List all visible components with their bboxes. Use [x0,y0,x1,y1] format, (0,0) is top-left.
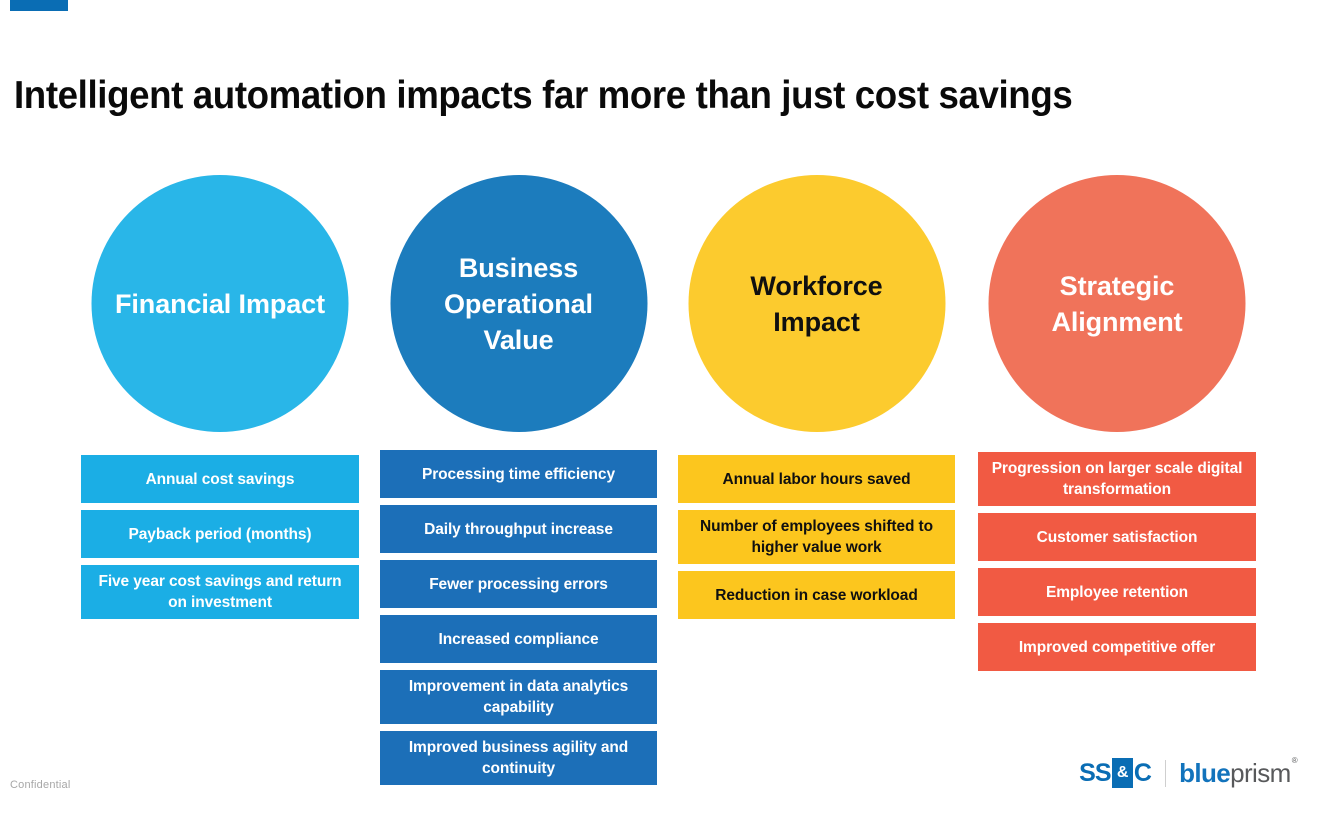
bar-item[interactable]: Daily throughput increase [380,505,657,553]
bar-item[interactable]: Improvement in data analytics capability [380,670,657,724]
ssc-text-right: C [1134,761,1151,786]
circle-label-workforce-impact: Workforce Impact [710,268,923,340]
bar-item[interactable]: Fewer processing errors [380,560,657,608]
column-business-operational-value: Business Operational Value Processing ti… [380,175,657,792]
blueprism-gray-text: prism [1230,758,1291,788]
circle-financial-impact[interactable]: Financial Impact [92,175,349,432]
ampersand-badge-icon: & [1112,758,1133,788]
bar-item[interactable]: Improved competitive offer [978,623,1256,671]
page-title: Intelligent automation impacts far more … [14,73,1217,119]
blueprism-wordmark: blueprism® [1179,760,1296,786]
bar-item[interactable]: Payback period (months) [81,510,359,558]
circle-business-operational-value[interactable]: Business Operational Value [390,175,647,432]
column-strategic-alignment: Strategic Alignment Progression on large… [978,175,1256,678]
ssc-text-left: SS [1079,761,1111,786]
ssc-wordmark: SS & C [1079,758,1151,788]
bar-item[interactable]: Annual labor hours saved [678,455,955,503]
bar-item[interactable]: Increased compliance [380,615,657,663]
logo-divider [1165,760,1166,787]
circle-label-strategic-alignment: Strategic Alignment [1011,268,1224,340]
confidential-label: Confidential [10,779,71,791]
ssc-blueprism-logo: SS & C blueprism® [1079,756,1296,790]
bar-item[interactable]: Employee retention [978,568,1256,616]
bar-item[interactable]: Annual cost savings [81,455,359,503]
column-financial-impact: Financial Impact Annual cost savings Pay… [81,175,359,626]
bar-item[interactable]: Customer satisfaction [978,513,1256,561]
circle-slot-business-operational-value: Business Operational Value [380,175,657,444]
top-accent-bar [10,0,68,11]
bar-list-workforce-impact: Annual labor hours saved Number of emplo… [678,444,955,619]
bar-list-financial-impact: Annual cost savings Payback period (mont… [81,444,359,619]
bar-item[interactable]: Improved business agility and continuity [380,731,657,785]
circle-label-business-operational-value: Business Operational Value [412,250,625,358]
circle-strategic-alignment[interactable]: Strategic Alignment [989,175,1246,432]
bar-item[interactable]: Processing time efficiency [380,450,657,498]
circle-slot-strategic-alignment: Strategic Alignment [978,175,1256,444]
category-columns: Financial Impact Annual cost savings Pay… [0,175,1320,795]
blueprism-blue-text: blue [1179,758,1230,788]
circle-slot-workforce-impact: Workforce Impact [678,175,955,444]
trademark-icon: ® [1292,756,1297,765]
bar-item[interactable]: Number of employees shifted to higher va… [678,510,955,564]
bar-list-strategic-alignment: Progression on larger scale digital tran… [978,444,1256,671]
circle-slot-financial-impact: Financial Impact [81,175,359,444]
bar-item[interactable]: Reduction in case workload [678,571,955,619]
circle-workforce-impact[interactable]: Workforce Impact [688,175,945,432]
bar-item[interactable]: Progression on larger scale digital tran… [978,452,1256,506]
circle-label-financial-impact: Financial Impact [115,286,325,322]
column-workforce-impact: Workforce Impact Annual labor hours save… [678,175,955,626]
bar-list-business-operational-value: Processing time efficiency Daily through… [380,444,657,785]
bar-item[interactable]: Five year cost savings and return on inv… [81,565,359,619]
